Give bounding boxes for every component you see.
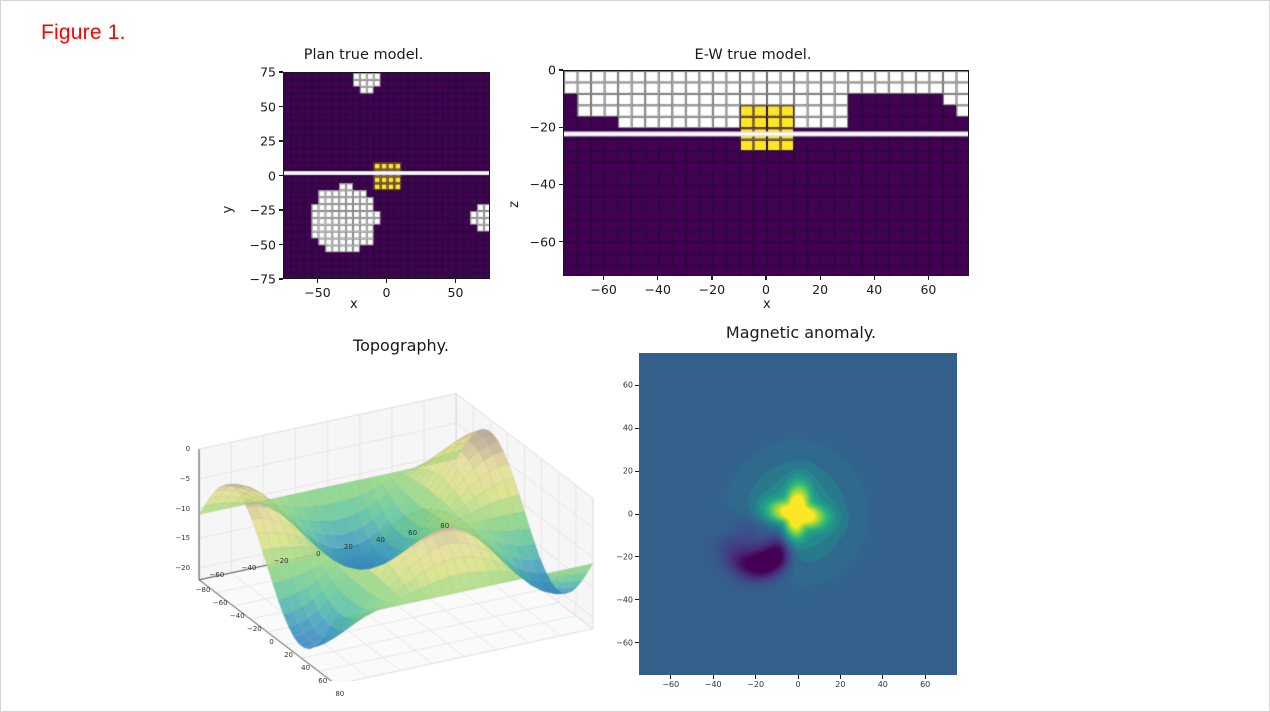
plot-area-plan xyxy=(283,72,490,279)
tickmark-plan-y-1 xyxy=(279,106,283,107)
tick-plan-y-5: −50 xyxy=(250,237,276,252)
tick-topo-y-2: 40 xyxy=(376,536,385,544)
tickmark-mag-y-4 xyxy=(635,556,639,557)
tick-topo-z-3: −15 xyxy=(175,534,190,542)
panel-title-plan: Plan true model. xyxy=(231,47,496,63)
tick-mag-y-5: −40 xyxy=(616,595,633,604)
panel-plan-true-model: Plan true model. y x 7550250−25−50−75−50… xyxy=(231,47,496,317)
tickmark-mag-x-5 xyxy=(882,675,883,679)
tick-mag-y-0: 60 xyxy=(623,381,633,390)
tickmark-mag-y-3 xyxy=(635,514,639,515)
tick-ew-y-2: −40 xyxy=(530,177,556,192)
axis-label-plan-y: y xyxy=(220,206,235,214)
tick-ew-y-3: −60 xyxy=(530,234,556,249)
tick-mag-x-0: −60 xyxy=(662,680,679,689)
tickmark-ew-x-0 xyxy=(603,276,604,280)
tickmark-plan-x-0 xyxy=(317,279,318,283)
tick-mag-y-6: −60 xyxy=(616,638,633,647)
tickmark-mag-x-1 xyxy=(713,675,714,679)
tickmark-plan-y-2 xyxy=(279,140,283,141)
tick-mag-x-1: −40 xyxy=(705,680,722,689)
tick-topo-x-2: −40 xyxy=(230,612,245,620)
panel-title-topography: Topography. xyxy=(196,336,606,355)
tickmark-plan-x-1 xyxy=(386,279,387,283)
tick-mag-y-3: 0 xyxy=(628,510,633,519)
tick-plan-y-6: −75 xyxy=(250,272,276,287)
axis-label-ew-x: x xyxy=(763,297,771,312)
tick-ew-x-6: 60 xyxy=(920,282,936,297)
tickmark-mag-y-2 xyxy=(635,471,639,472)
panel-topography: Topography. 0−5−10−15−20−80−60−40−200204… xyxy=(196,331,606,681)
tick-ew-x-2: −20 xyxy=(699,282,725,297)
tickmark-ew-y-1 xyxy=(559,127,563,128)
tick-topo-x-4: 0 xyxy=(269,638,273,646)
magnetic-anomaly-map xyxy=(639,353,957,675)
tick-ew-y-1: −20 xyxy=(530,120,556,135)
tickmark-mag-y-6 xyxy=(635,642,639,643)
tickmark-ew-x-4 xyxy=(820,276,821,280)
tick-mag-x-5: 40 xyxy=(878,680,888,689)
tick-topo-x-8: 80 xyxy=(335,690,344,698)
tick-ew-y-0: 0 xyxy=(548,63,556,78)
tickmark-ew-y-2 xyxy=(559,184,563,185)
tickmark-plan-y-4 xyxy=(279,209,283,210)
tick-topo-x-5: 20 xyxy=(284,651,293,659)
tickmark-ew-x-1 xyxy=(657,276,658,280)
tick-topo-x-0: −80 xyxy=(196,586,211,594)
tick-plan-x-0: −50 xyxy=(304,285,330,300)
panel-title-magnetic: Magnetic anomaly. xyxy=(621,323,981,342)
tick-plan-y-3: 0 xyxy=(268,168,276,183)
tickmark-plan-y-0 xyxy=(279,71,283,72)
figure-frame: Figure 1. Plan true model. y x 7550250−2… xyxy=(0,0,1270,712)
tick-mag-y-2: 20 xyxy=(623,467,633,476)
tick-mag-x-2: −20 xyxy=(747,680,764,689)
tickmark-plan-y-5 xyxy=(279,244,283,245)
tick-topo-y-7: −60 xyxy=(209,571,224,579)
tick-topo-z-1: −5 xyxy=(180,475,190,483)
tick-plan-x-2: 50 xyxy=(448,285,464,300)
tickmark-ew-x-2 xyxy=(711,276,712,280)
tick-ew-x-0: −60 xyxy=(590,282,616,297)
tick-topo-x-7: 60 xyxy=(318,677,327,685)
tickmark-plan-y-3 xyxy=(279,175,283,176)
tick-topo-y-0: 80 xyxy=(440,522,449,530)
tick-topo-z-4: −20 xyxy=(175,564,190,572)
tickmark-mag-x-4 xyxy=(840,675,841,679)
tickmark-ew-x-5 xyxy=(874,276,875,280)
tick-plan-y-1: 50 xyxy=(260,99,276,114)
panel-magnetic-anomaly: Magnetic anomaly. 6040200−20−40−60−60−40… xyxy=(621,323,981,683)
axis-label-plan-x: x xyxy=(350,297,358,312)
tickmark-ew-y-0 xyxy=(559,69,563,70)
tick-topo-y-5: −20 xyxy=(274,557,289,565)
plan-model-grid xyxy=(284,73,490,279)
tick-mag-y-1: 40 xyxy=(623,424,633,433)
tickmark-mag-y-1 xyxy=(635,428,639,429)
tick-mag-x-4: 20 xyxy=(835,680,845,689)
tickmark-mag-x-3 xyxy=(798,675,799,679)
tickmark-ew-x-6 xyxy=(928,276,929,280)
tick-ew-x-5: 40 xyxy=(866,282,882,297)
tick-topo-x-3: −20 xyxy=(247,625,262,633)
plot-area-ew xyxy=(563,70,969,276)
tick-mag-x-6: 60 xyxy=(920,680,930,689)
tick-topo-y-4: 0 xyxy=(316,550,320,558)
tick-topo-y-6: −40 xyxy=(242,564,257,572)
panel-title-ew: E-W true model. xyxy=(513,47,993,63)
tickmark-ew-y-3 xyxy=(559,241,563,242)
tick-plan-x-1: 0 xyxy=(383,285,391,300)
tick-ew-x-4: 20 xyxy=(812,282,828,297)
figure-label: Figure 1. xyxy=(41,21,126,45)
tick-plan-y-4: −25 xyxy=(250,203,276,218)
tick-topo-z-0: 0 xyxy=(186,445,190,453)
ew-model-grid xyxy=(564,71,969,276)
tick-plan-y-2: 25 xyxy=(260,134,276,149)
tick-ew-x-1: −40 xyxy=(645,282,671,297)
tick-mag-x-3: 0 xyxy=(795,680,800,689)
tickmark-mag-y-5 xyxy=(635,599,639,600)
tick-mag-y-4: −20 xyxy=(616,552,633,561)
tickmark-plan-x-2 xyxy=(455,279,456,283)
tickmark-mag-y-0 xyxy=(635,385,639,386)
plot-area-magnetic xyxy=(639,353,957,675)
tick-topo-y-1: 60 xyxy=(408,529,417,537)
tickmark-mag-x-2 xyxy=(755,675,756,679)
tickmark-ew-x-3 xyxy=(765,276,766,280)
panel-ew-true-model: E-W true model. z x 0−20−40−60−60−40−200… xyxy=(513,47,993,317)
tick-topo-y-3: 20 xyxy=(344,543,353,551)
tickmark-mag-x-0 xyxy=(670,675,671,679)
tick-ew-x-3: 0 xyxy=(762,282,770,297)
tick-topo-x-1: −60 xyxy=(213,599,228,607)
tickmark-mag-x-6 xyxy=(925,675,926,679)
tick-plan-y-0: 75 xyxy=(260,65,276,80)
tick-topo-z-2: −10 xyxy=(175,505,190,513)
tick-topo-x-6: 40 xyxy=(301,664,310,672)
axis-label-ew-y: z xyxy=(507,201,522,208)
tickmark-plan-y-6 xyxy=(279,278,283,279)
